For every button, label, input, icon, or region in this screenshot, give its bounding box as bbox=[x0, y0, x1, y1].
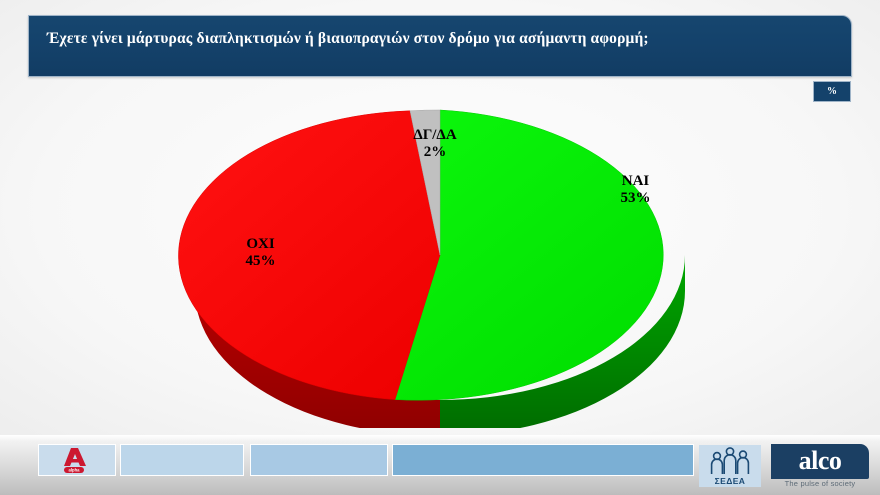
svg-text:alpha: alpha bbox=[69, 468, 81, 473]
slide-root: Έχετε γίνει μάρτυρας διαπληκτισμών ή βια… bbox=[0, 0, 880, 495]
footer-segment-3 bbox=[250, 444, 388, 476]
pie-label-nai-name: ΝΑΙ bbox=[622, 173, 650, 189]
alco-logo: alco bbox=[771, 444, 869, 479]
pie-label-dgda-value: 2% bbox=[424, 144, 447, 160]
pie-label-oxi-value: 45% bbox=[246, 253, 276, 269]
pie-label-dgda: ΔΓ/ΔΑ 2% bbox=[380, 127, 490, 161]
alco-tagline: The pulse of society bbox=[771, 479, 869, 488]
sedea-logo: ΣΕΔΕΑ bbox=[699, 445, 761, 487]
pie-label-dgda-name: ΔΓ/ΔΑ bbox=[413, 127, 456, 143]
pie-label-nai: ΝΑΙ 53% bbox=[583, 173, 688, 207]
footer-segment-2 bbox=[120, 444, 244, 476]
page-title: Έχετε γίνει μάρτυρας διαπληκτισμών ή βια… bbox=[47, 30, 837, 48]
pie-label-nai-value: 53% bbox=[621, 190, 651, 206]
pie-label-oxi-name: ΟΧΙ bbox=[246, 236, 274, 252]
pie-label-oxi: ΟΧΙ 45% bbox=[208, 236, 313, 270]
footer-bar: alpha ΣΕΔΕΑ alco The pulse of society bbox=[0, 435, 880, 495]
footer-segment-4 bbox=[392, 444, 694, 476]
alco-wordmark: alco bbox=[771, 445, 869, 476]
sedea-people-icon bbox=[699, 445, 761, 477]
sedea-label: ΣΕΔΕΑ bbox=[699, 476, 761, 486]
title-bar: Έχετε γίνει μάρτυρας διαπληκτισμών ή βια… bbox=[28, 15, 852, 77]
pie-chart: ΝΑΙ 53% ΟΧΙ 45% ΔΓ/ΔΑ 2% bbox=[0, 88, 880, 428]
alpha-tv-logo-icon: alpha bbox=[56, 447, 94, 474]
